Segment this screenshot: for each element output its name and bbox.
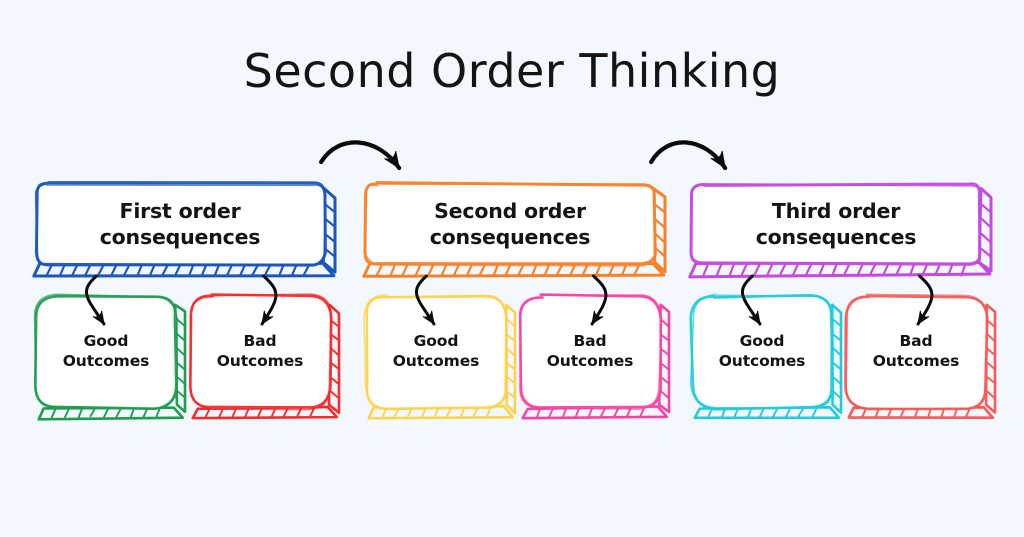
- diagram-canvas: Second Order Thinking First order conseq…: [0, 0, 1024, 537]
- flow-arrow-second-to-third: [651, 142, 725, 168]
- box-first-order: [34, 183, 336, 276]
- box-second-order-good: [364, 295, 515, 418]
- diagram-graphics: [0, 0, 1024, 537]
- box-second-order: [364, 183, 666, 277]
- box-first-order-good: [35, 294, 186, 419]
- flow-arrow-first-to-second: [321, 142, 399, 168]
- box-third-order: [690, 184, 991, 277]
- box-third-order-good: [691, 294, 842, 418]
